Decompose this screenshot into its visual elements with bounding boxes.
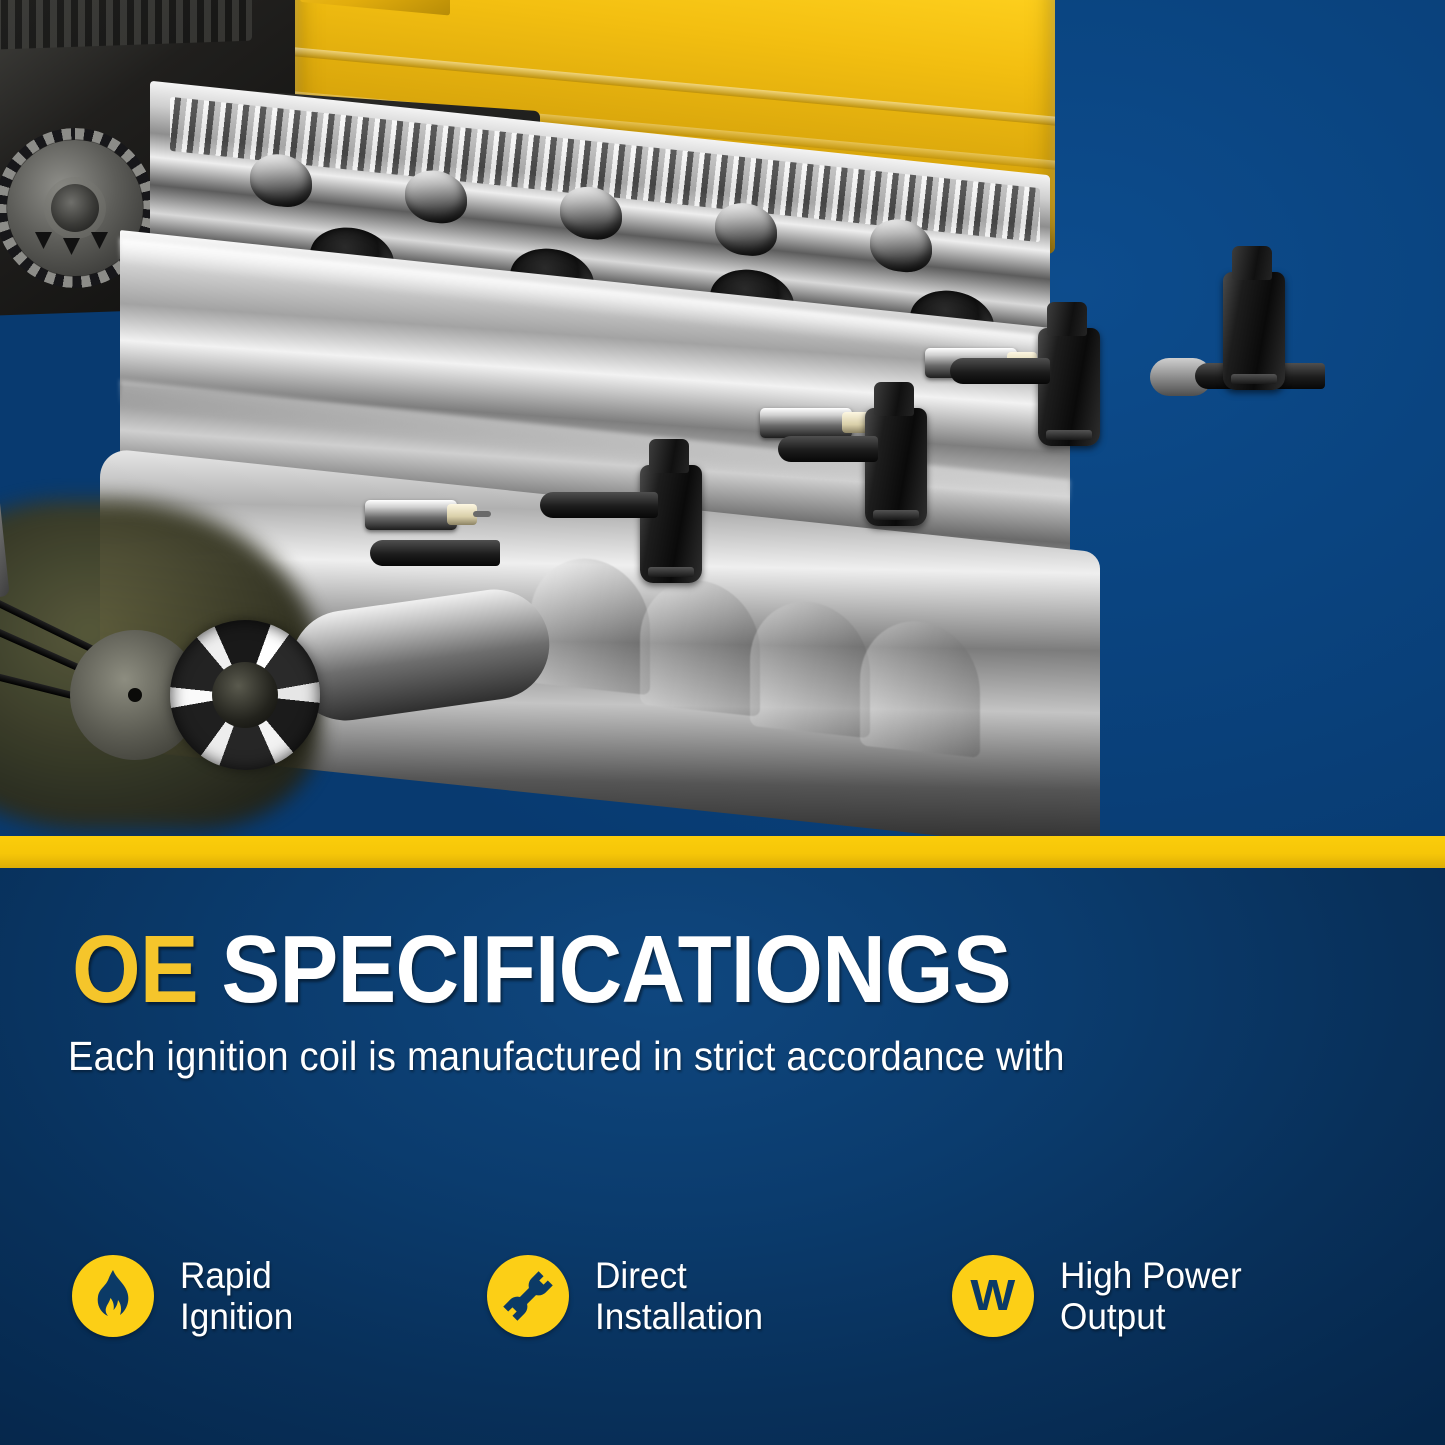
product-marketing-image: OE SPECIFICATIONGS Each ignition coil is… <box>0 0 1445 1445</box>
oil-pan-rib <box>530 553 650 696</box>
spark-plug <box>365 500 457 530</box>
feature-label-line2: Ignition <box>180 1296 293 1337</box>
coil-stem <box>540 492 658 518</box>
feature-direct-installation: Direct Installation <box>487 1255 772 1338</box>
feature-high-power-output: W High Power Output <box>952 1255 1251 1338</box>
ignition-coil <box>1223 272 1285 390</box>
feature-label-line1: Direct <box>595 1255 763 1296</box>
feature-label: Direct Installation <box>595 1255 763 1338</box>
feature-label: High Power Output <box>1060 1255 1242 1338</box>
cam-lobe <box>870 216 932 275</box>
ignition-coil <box>1038 328 1100 446</box>
feature-label: Rapid Ignition <box>180 1255 293 1338</box>
ignition-coil <box>640 465 702 583</box>
sprocket-hub <box>51 184 99 232</box>
coil-stem <box>778 436 878 462</box>
page-title: OE SPECIFICATIONGS <box>72 922 1011 1018</box>
coil-stem <box>950 358 1050 384</box>
spark-plug <box>760 408 852 438</box>
yellow-divider-band <box>0 836 1445 868</box>
ignition-coil <box>865 408 927 526</box>
cam-lobe <box>250 151 312 210</box>
oil-pan-rib <box>640 574 760 717</box>
oil-pan-rib <box>750 596 870 739</box>
w-letter-icon: W <box>952 1255 1034 1337</box>
w-glyph: W <box>971 1274 1016 1318</box>
feature-badge-list: Rapid Ignition Direct <box>0 1255 1445 1385</box>
plug-tip <box>473 511 491 517</box>
flame-icon <box>72 1255 154 1337</box>
feature-label-line2: Installation <box>595 1296 763 1337</box>
feature-rapid-ignition: Rapid Ignition <box>72 1255 299 1338</box>
engine-assembly <box>0 0 1080 836</box>
cam-lobe <box>715 200 777 259</box>
coil-stem <box>370 540 500 566</box>
cam-lobe <box>560 184 622 243</box>
crank-pulley <box>170 620 320 770</box>
valve-cover-tab <box>300 0 450 16</box>
headline-accent-word: OE <box>72 916 198 1023</box>
feature-label-line1: Rapid <box>180 1255 293 1296</box>
oil-pan-rib <box>860 615 980 758</box>
cam-lobe <box>405 168 467 227</box>
feature-label-line2: Output <box>1060 1296 1242 1337</box>
feature-label-line1: High Power <box>1060 1255 1242 1296</box>
wrench-icon <box>487 1255 569 1337</box>
crank-pulley-assembly <box>90 560 420 810</box>
engine-product-photo <box>0 0 1445 836</box>
page-subtitle: Each ignition coil is manufactured in st… <box>68 1032 1065 1081</box>
headline-rest: SPECIFICATIONGS <box>221 916 1010 1023</box>
